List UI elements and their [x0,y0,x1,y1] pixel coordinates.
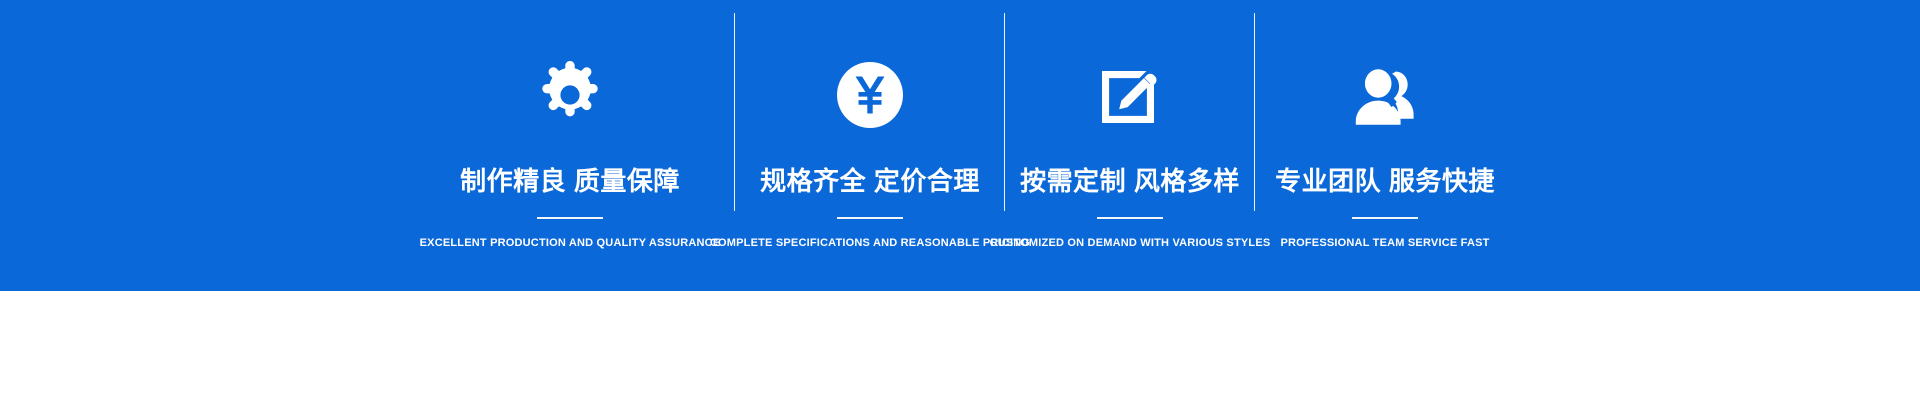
title-divider-rule [537,217,603,219]
feature-column-1[interactable]: 制作精良 质量保障 EXCELLENT PRODUCTION AND QUALI… [405,0,735,291]
feature-column-3[interactable]: 按需定制 风格多样 CUSTOMIZED ON DEMAND WITH VARI… [1005,0,1255,291]
feature-columns-container: 制作精良 质量保障 EXCELLENT PRODUCTION AND QUALI… [370,0,1550,291]
feature-title: 制作精良 质量保障 [460,166,680,197]
feature-subtitle: EXCELLENT PRODUCTION AND QUALITY ASSURAN… [420,237,721,249]
edit-pencil-square-icon [1087,52,1173,138]
page-bottom-whitespace [0,291,1920,401]
feature-subtitle: PROFESSIONAL TEAM SERVICE FAST [1280,237,1489,249]
feature-column-4[interactable]: 专业团队 服务快捷 PROFESSIONAL TEAM SERVICE FAST [1255,0,1515,291]
feature-title: 规格齐全 定价合理 [760,166,980,197]
yen-coin-icon [827,52,913,138]
gear-icon [527,52,613,138]
title-divider-rule [1352,217,1418,219]
feature-subtitle: COMPLETE SPECIFICATIONS AND REASONABLE P… [710,237,1030,249]
feature-title: 专业团队 服务快捷 [1275,166,1495,197]
title-divider-rule [1097,217,1163,219]
feature-column-2[interactable]: 规格齐全 定价合理 COMPLETE SPECIFICATIONS AND RE… [735,0,1005,291]
feature-banner: 制作精良 质量保障 EXCELLENT PRODUCTION AND QUALI… [0,0,1920,291]
title-divider-rule [837,217,903,219]
users-team-icon [1342,52,1428,138]
feature-subtitle: CUSTOMIZED ON DEMAND WITH VARIOUS STYLES [990,237,1271,249]
feature-title: 按需定制 风格多样 [1020,166,1240,197]
